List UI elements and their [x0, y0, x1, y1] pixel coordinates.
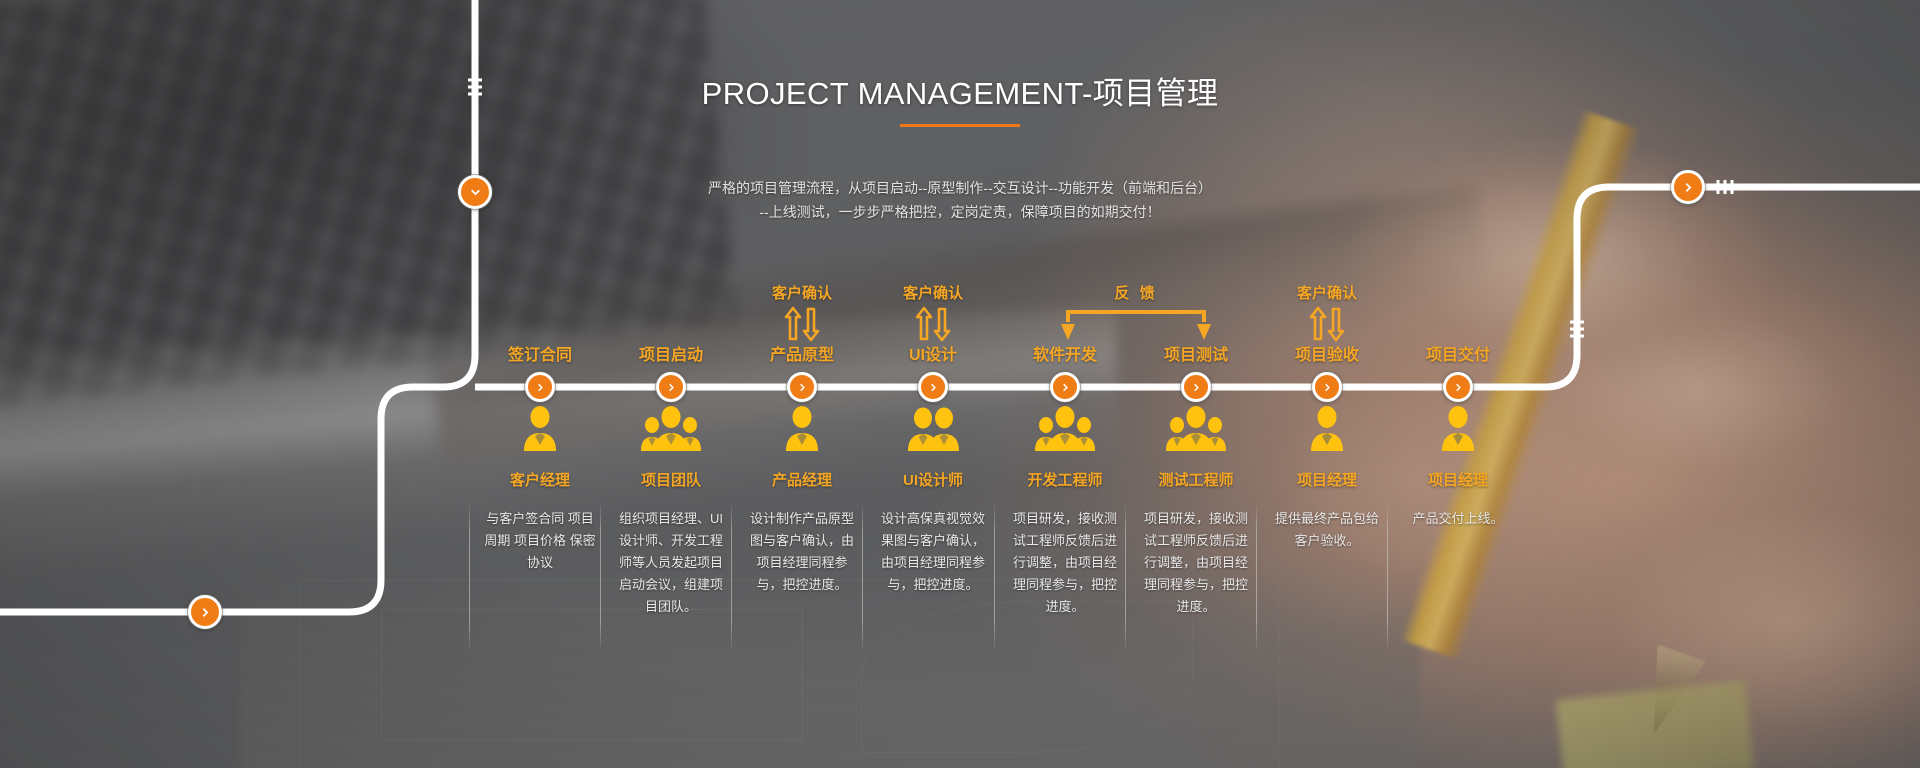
person-pair-icon: [864, 405, 1002, 453]
role-label: 项目经理: [1389, 469, 1527, 490]
up-down-arrows-icon: [864, 306, 1002, 344]
stage-label: 项目验收: [1258, 341, 1396, 365]
chevron-right-icon: [535, 382, 546, 393]
stage-label: 签订合同: [471, 341, 609, 365]
stage-description: 与客户签合同 项目周期 项目价格 保密协议: [483, 508, 597, 574]
stage-label: 软件开发: [996, 341, 1134, 365]
role-label: 开发工程师: [996, 469, 1134, 490]
chevron-right-icon: [1453, 382, 1464, 393]
stage-description: 提供最终产品包给客户验收。: [1270, 508, 1384, 552]
person-group-icon: [996, 405, 1134, 453]
confirm-label: 客户确认: [1258, 282, 1396, 303]
chevron-right-icon: [1060, 382, 1071, 393]
stage-node-2[interactable]: [656, 372, 686, 402]
up-down-arrows-icon: [1258, 306, 1396, 344]
role-label: 项目团队: [602, 469, 740, 490]
chevron-right-icon: [1322, 382, 1333, 393]
chevron-right-icon: [797, 382, 808, 393]
stage-description: 产品交付上线。: [1401, 508, 1515, 530]
person-group-icon: [1127, 405, 1265, 453]
column-divider: [862, 505, 863, 650]
stage-node-6[interactable]: [1181, 372, 1211, 402]
page-root: PROJECT MANAGEMENT-项目管理 严格的项目管理流程，从项目启动-…: [0, 0, 1920, 768]
stage-label: 产品原型: [733, 341, 871, 365]
column-divider: [1256, 505, 1257, 650]
stage-description: 组织项目经理、UI设计师、开发工程师等人员发起项目启动会议，组建项目团队。: [614, 508, 728, 618]
confirm-label: 客户确认: [864, 282, 1002, 303]
chevron-right-icon: [928, 382, 939, 393]
column-divider: [600, 505, 601, 650]
column-divider: [469, 505, 470, 650]
stage-node-4[interactable]: [918, 372, 948, 402]
role-label: UI设计师: [864, 469, 1002, 490]
role-label: 测试工程师: [1127, 469, 1265, 490]
role-label: 项目经理: [1258, 469, 1396, 490]
person-single-icon: [733, 405, 871, 453]
stage-label: UI设计: [864, 341, 1002, 365]
person-single-icon: [1258, 405, 1396, 453]
column-divider: [1387, 505, 1388, 650]
column-divider: [1125, 505, 1126, 650]
stage-label: 项目交付: [1389, 341, 1527, 365]
stage-node-5[interactable]: [1050, 372, 1080, 402]
person-single-icon: [1389, 405, 1527, 453]
stage-description: 项目研发，接收测试工程师反馈后进行调整，由项目经理同程参与，把控进度。: [1139, 508, 1253, 618]
column-divider: [994, 505, 995, 650]
confirm-label: 客户确认: [733, 282, 871, 303]
up-down-arrows-icon: [733, 306, 871, 344]
stage-description: 项目研发，接收测试工程师反馈后进行调整，由项目经理同程参与，把控进度。: [1008, 508, 1122, 618]
stage-description: 设计制作产品原型图与客户确认，由项目经理同程参与，把控进度。: [745, 508, 859, 596]
timeline: 签订合同 客户经理 与客户签合同 项目周期 项目价格 保密协议 项目启动 项目团…: [0, 0, 1920, 768]
stage-label: 项目启动: [602, 341, 740, 365]
person-group-icon: [602, 405, 740, 453]
stage-label: 项目测试: [1127, 341, 1265, 365]
stage-node-7[interactable]: [1312, 372, 1342, 402]
stage-node-1[interactable]: [525, 372, 555, 402]
column-divider: [731, 505, 732, 650]
person-single-icon: [471, 405, 609, 453]
role-label: 产品经理: [733, 469, 871, 490]
chevron-right-icon: [666, 382, 677, 393]
chevron-right-icon: [1191, 382, 1202, 393]
role-label: 客户经理: [471, 469, 609, 490]
stage-description: 设计高保真视觉效果图与客户确认，由项目经理同程参与，把控进度。: [876, 508, 990, 596]
stage-node-3[interactable]: [787, 372, 817, 402]
stage-node-8[interactable]: [1443, 372, 1473, 402]
